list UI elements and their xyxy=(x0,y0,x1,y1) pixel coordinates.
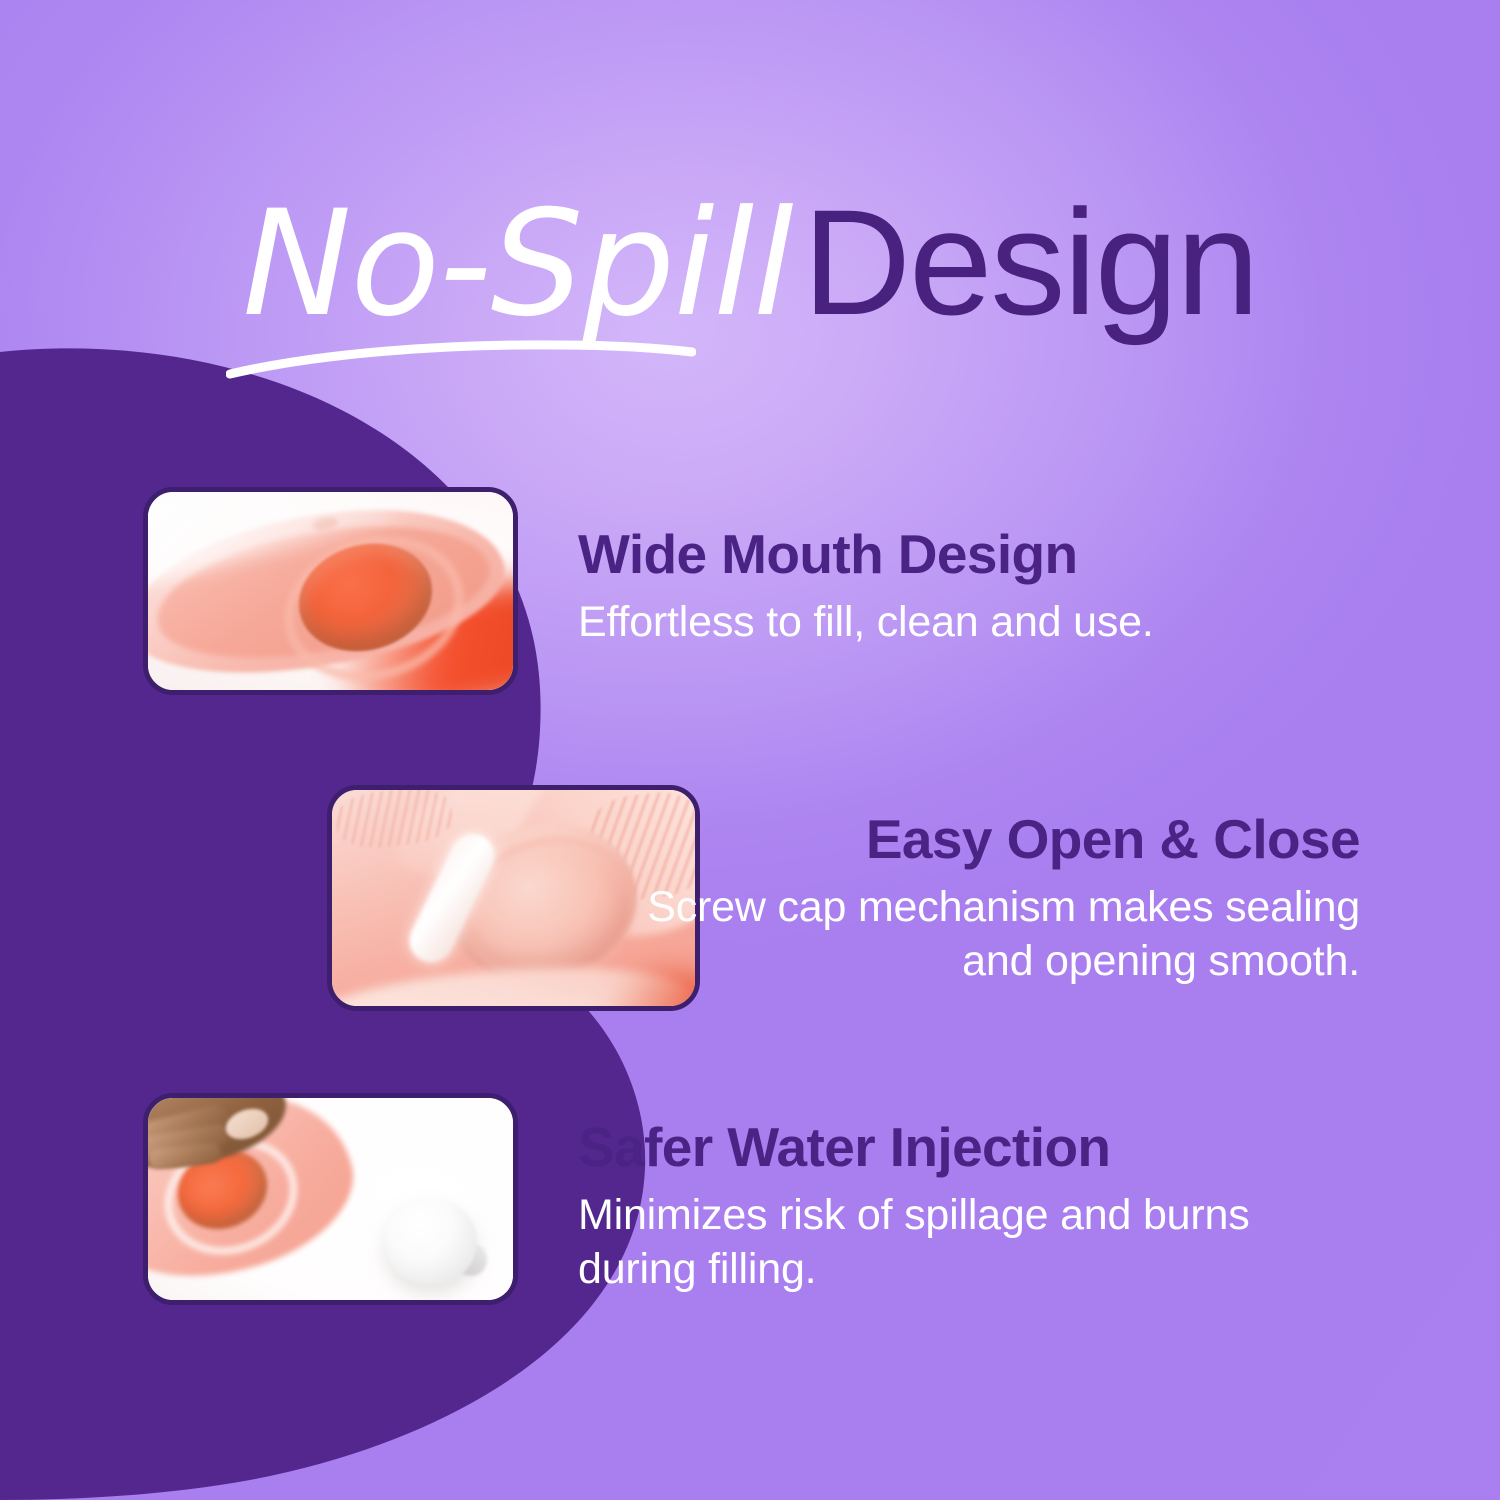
hand-holding-bottle-with-cap-photo xyxy=(148,1098,513,1300)
page-title-inner: No-SpillDesign xyxy=(242,186,1257,339)
feature-description-1: Effortless to fill, clean and use. xyxy=(578,595,1258,649)
infographic-canvas: No-SpillDesign Wide Mouth Design Effortl… xyxy=(0,0,1500,1500)
wide-mouth-opening-photo xyxy=(148,492,513,690)
feature-image-card-1 xyxy=(143,487,518,695)
feature-text-1: Wide Mouth Design Effortless to fill, cl… xyxy=(578,525,1258,649)
feature-image-card-3 xyxy=(143,1093,518,1305)
photo3-white-cap xyxy=(385,1199,476,1284)
feature-description-3: Minimizes risk of spillage and burns dur… xyxy=(578,1188,1318,1296)
page-title: No-SpillDesign xyxy=(0,186,1500,339)
title-solid-text: Design xyxy=(803,178,1258,346)
feature-title-1: Wide Mouth Design xyxy=(578,525,1258,583)
feature-description-2: Screw cap mechanism makes sealing and op… xyxy=(600,880,1360,988)
feature-title-2: Easy Open & Close xyxy=(600,810,1360,868)
feature-text-2: Easy Open & Close Screw cap mechanism ma… xyxy=(600,810,1360,989)
title-script-text: No-Spill xyxy=(242,179,802,349)
feature-text-3: Safer Water Injection Minimizes risk of … xyxy=(578,1118,1318,1297)
feature-title-3: Safer Water Injection xyxy=(578,1118,1318,1176)
